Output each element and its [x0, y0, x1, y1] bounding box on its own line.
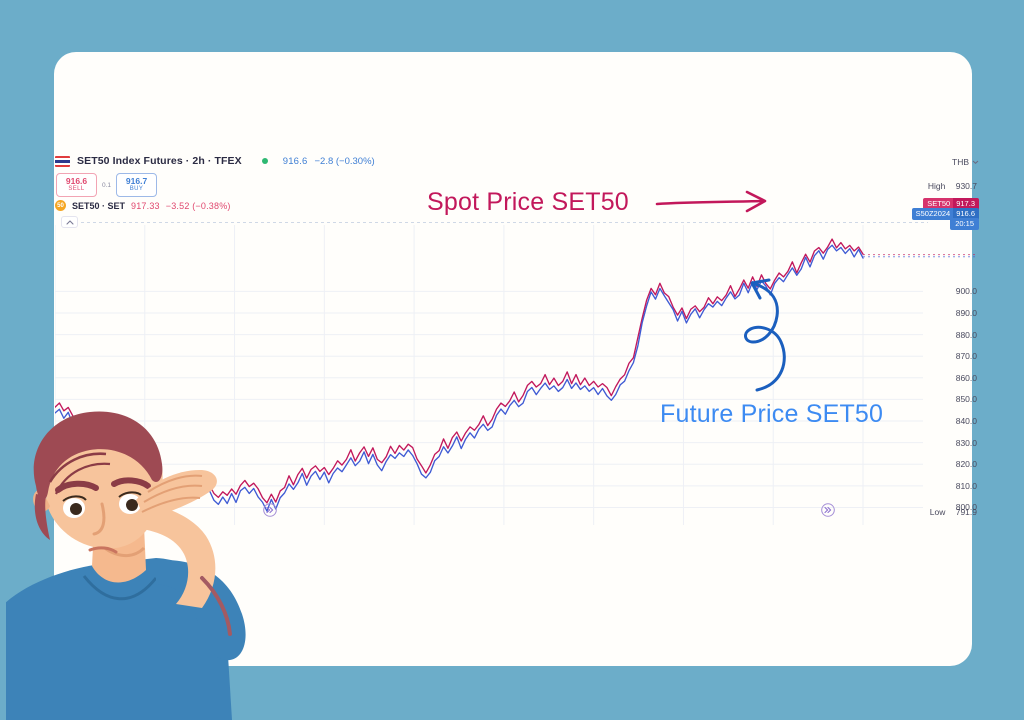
- curly-arrow-up-icon: [735, 272, 805, 392]
- axis-tick: 880.0: [956, 330, 977, 340]
- axis-tick: 830.0: [956, 438, 977, 448]
- spread-value: 0.1: [102, 182, 111, 189]
- straight-arrow-right-icon: [655, 185, 775, 219]
- low-label: Low: [930, 507, 946, 517]
- set50-coin-icon: 50: [55, 200, 66, 211]
- currency-selector[interactable]: THB: [952, 157, 979, 167]
- axis-tick: 860.0: [956, 373, 977, 383]
- axis-tick: 810.0: [956, 481, 977, 491]
- second-symbol-row[interactable]: 50 SET50 · SET 917.33 −3.52 (−0.38%): [55, 200, 231, 211]
- buy-button[interactable]: 916.7 BUY: [116, 173, 157, 197]
- currency-label: THB: [952, 157, 969, 167]
- buy-price: 916.7: [126, 177, 147, 186]
- header-separator: [81, 222, 928, 223]
- high-row: High 930.7: [928, 181, 977, 191]
- second-symbol-change: −3.52 (−0.38%): [166, 201, 231, 211]
- high-value: 930.7: [956, 181, 977, 191]
- symbol-title[interactable]: SET50 Index Futures · 2h · TFEX: [77, 155, 242, 167]
- sell-label: SELL: [68, 186, 84, 192]
- sell-button[interactable]: 916.6 SELL: [56, 173, 97, 197]
- axis-tick: 840.0: [956, 416, 977, 426]
- market-open-dot-icon: [262, 158, 268, 164]
- sell-buy-row: 916.6 SELL 0.1 916.7 BUY: [56, 173, 157, 197]
- axis-tick: 870.0: [956, 351, 977, 361]
- buy-label: BUY: [130, 186, 144, 192]
- chevron-down-icon: [972, 160, 979, 164]
- low-value: 791.9: [956, 507, 977, 517]
- last-price: 916.6: [283, 156, 308, 167]
- countdown-badge: 20:15: [950, 218, 979, 230]
- annotation-spot-price: Spot Price SET50: [427, 188, 629, 217]
- event-marker-icon[interactable]: [821, 503, 835, 522]
- second-symbol-name: SET50 · SET: [72, 201, 125, 211]
- axis-tick: 850.0: [956, 394, 977, 404]
- axis-tick: 890.0: [956, 308, 977, 318]
- low-row: Low 791.9: [930, 507, 977, 517]
- axis-tick: 820.0: [956, 459, 977, 469]
- annotation-future-price: Future Price SET50: [660, 400, 883, 429]
- sell-price: 916.6: [66, 177, 87, 186]
- axis-tick: 900.0: [956, 286, 977, 296]
- second-symbol-price: 917.33: [131, 201, 160, 211]
- thailand-flag-icon: [55, 156, 70, 167]
- badge-future-name: S50Z2024: [912, 208, 954, 220]
- chart-header: SET50 Index Futures · 2h · TFEX 916.6 −2…: [55, 155, 375, 167]
- man-looking-up-illustration: [6, 408, 296, 720]
- price-change: −2.8 (−0.30%): [315, 156, 375, 167]
- price-axis[interactable]: THB High 930.7 SET50 917.3 S50Z2024 916.…: [923, 155, 983, 525]
- high-label: High: [928, 181, 945, 191]
